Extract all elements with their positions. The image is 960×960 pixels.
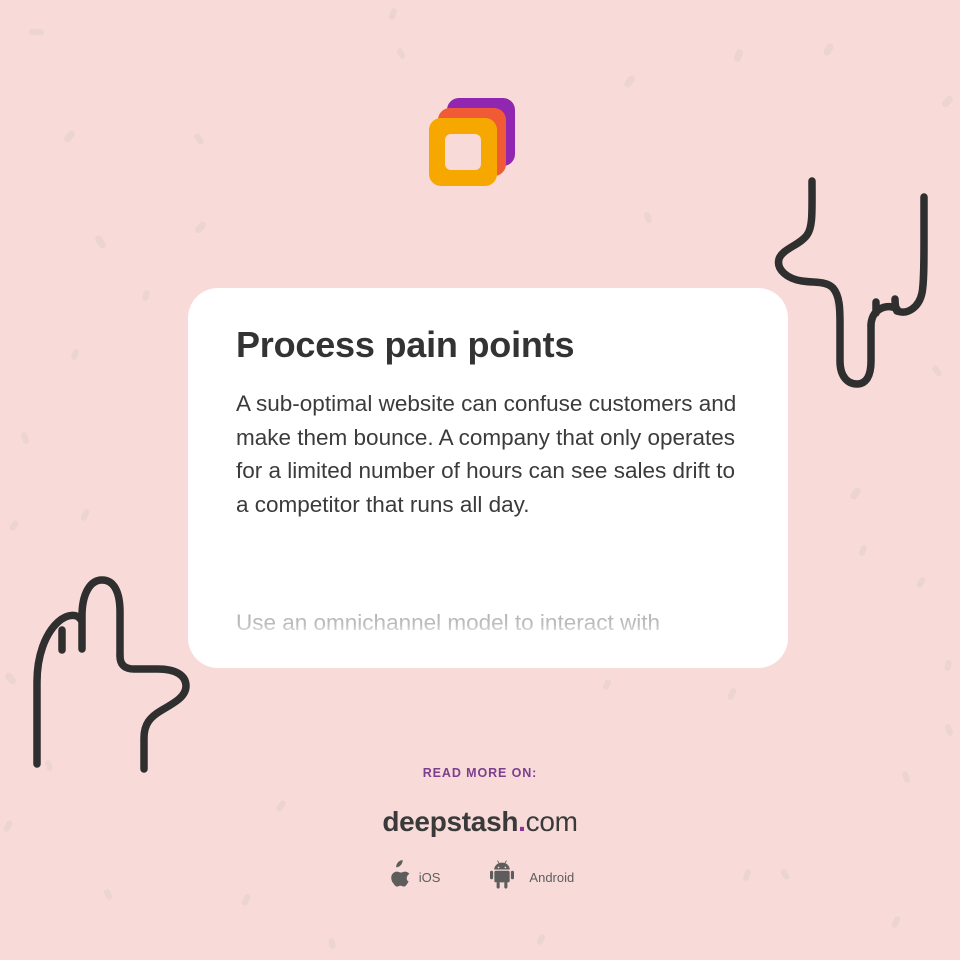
background-speck (822, 42, 835, 57)
background-speck (727, 687, 738, 700)
next-idea-preview: Use an omnichannel model to interact wit… (236, 606, 756, 640)
background-speck (944, 723, 954, 736)
wordmark-tld: com (526, 806, 578, 837)
background-speck (193, 132, 205, 145)
background-speck (931, 364, 943, 377)
background-speck (916, 576, 927, 589)
background-speck (536, 933, 546, 946)
background-speck (602, 678, 613, 691)
background-speck (80, 508, 91, 521)
deepstash-share-card: Process pain points A sub-optimal websit… (0, 0, 960, 960)
background-speck (194, 220, 208, 234)
footer: READ MORE ON: deepstash.com iOS (0, 766, 960, 894)
background-speck (733, 48, 744, 63)
ios-store-label: iOS (419, 870, 441, 885)
apple-icon (386, 860, 410, 894)
background-speck (94, 234, 107, 250)
android-icon (490, 860, 520, 894)
ios-store-badge[interactable]: iOS (386, 860, 441, 894)
background-speck (29, 29, 44, 36)
wordmark-name: deepstash (382, 806, 518, 837)
android-store-label: Android (529, 870, 574, 885)
background-speck (388, 7, 398, 20)
background-speck (4, 671, 18, 685)
background-speck (328, 937, 337, 949)
idea-card-content: Process pain points A sub-optimal websit… (188, 288, 788, 521)
background-speck (891, 915, 902, 928)
background-speck (70, 348, 79, 360)
idea-body-text: A sub-optimal website can confuse custom… (236, 387, 740, 521)
background-speck (396, 47, 406, 60)
deepstash-logo (425, 98, 521, 198)
read-more-label: READ MORE ON: (0, 766, 960, 780)
store-badges: iOS Android (0, 860, 960, 894)
background-speck (20, 431, 30, 444)
background-speck (643, 211, 652, 223)
logo-layer-amber (429, 118, 497, 186)
background-speck (944, 659, 953, 671)
page-title: Process pain points (236, 324, 740, 365)
background-speck (941, 94, 955, 108)
background-speck (832, 299, 843, 312)
background-speck (623, 74, 636, 89)
background-speck (858, 544, 867, 556)
idea-card[interactable]: Process pain points A sub-optimal websit… (188, 288, 788, 668)
background-speck (142, 289, 151, 301)
background-speck (63, 129, 77, 144)
background-speck (8, 519, 19, 531)
android-store-badge[interactable]: Android (490, 860, 574, 894)
background-speck (849, 486, 862, 501)
deepstash-wordmark[interactable]: deepstash.com (0, 806, 960, 838)
background-speck (241, 893, 252, 906)
wordmark-dot: . (518, 806, 525, 837)
